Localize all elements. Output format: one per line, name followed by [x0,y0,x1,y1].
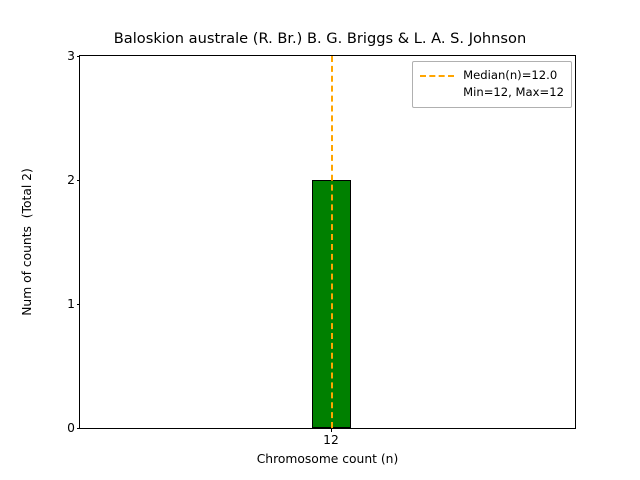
legend-row-median: Median(n)=12.0 [420,67,564,84]
legend-dashed-line-icon [420,75,454,77]
x-tick-label: 12 [323,434,339,447]
legend-label-median: Median(n)=12.0 [463,69,557,82]
legend-blank-sample-icon [420,92,454,94]
y-tick-label: 0 [67,422,75,434]
chart-legend: Median(n)=12.0 Min=12, Max=12 [412,61,572,108]
x-axis-label: Chromosome count (n) [79,452,576,466]
page-title: Baloskion australe (R. Br.) B. G. Briggs… [0,30,640,47]
chart-figure: Baloskion australe (R. Br.) B. G. Briggs… [0,0,640,480]
plot-area [80,56,575,428]
legend-label-minmax: Min=12, Max=12 [463,86,564,99]
median-line [331,56,333,428]
x-tick-mark [331,428,332,432]
y-axis-label: Num of counts (Total 2) [20,168,34,316]
plot-axes: 0 1 2 3 12 Median( [79,55,576,429]
y-tick-label: 1 [67,298,75,310]
y-tick-label: 3 [67,50,75,62]
y-axis-label-container: Num of counts (Total 2) [0,55,54,429]
y-tick-label: 2 [67,174,75,186]
y-tick-mark [77,428,81,429]
legend-row-minmax: Min=12, Max=12 [420,84,564,101]
